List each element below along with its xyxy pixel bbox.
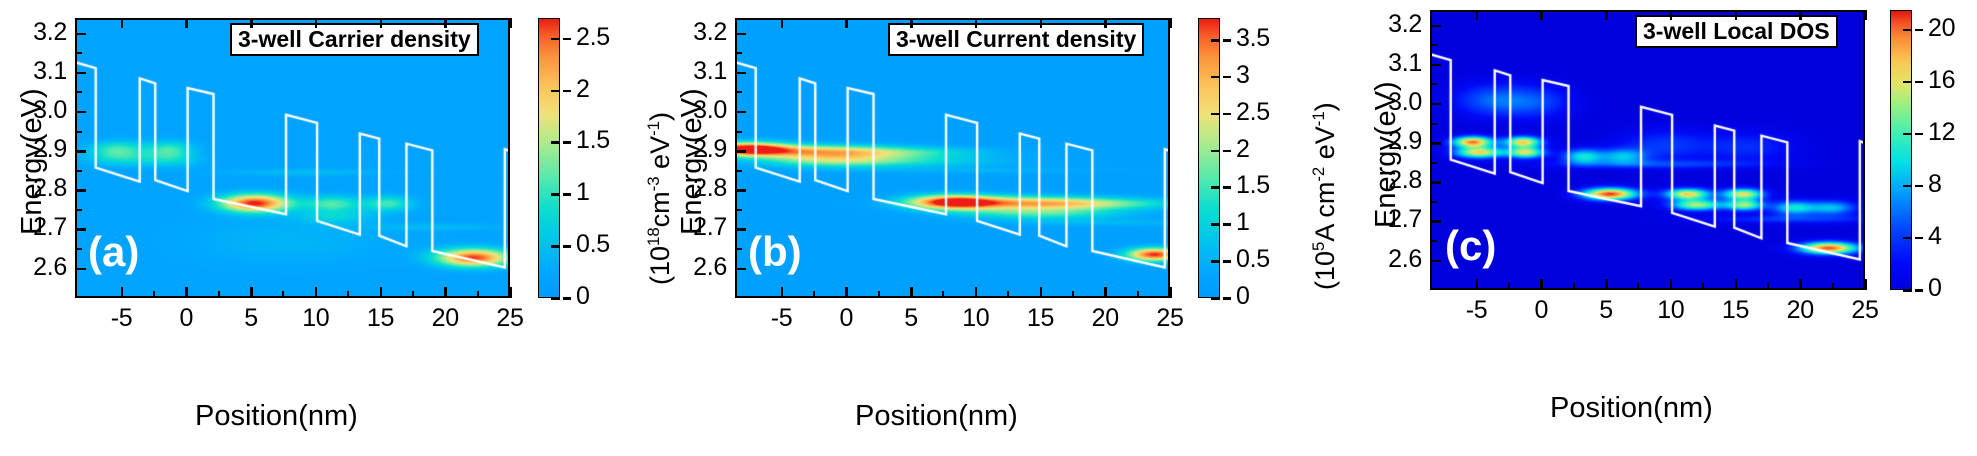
x-tick-label: 5	[1584, 296, 1628, 325]
x-tick	[444, 287, 447, 298]
y-minor-tick	[1430, 162, 1437, 164]
colorbar-tick-label: 20	[1928, 14, 1955, 43]
y-minor-tick	[75, 209, 82, 211]
x-top-tick	[444, 18, 447, 28]
x-top-tick	[1540, 10, 1543, 20]
y-minor-tick	[75, 131, 82, 133]
x-top-tick	[1670, 10, 1673, 20]
x-axis-title-c: Position(nm)	[1550, 392, 1713, 425]
colorbar-tick	[1211, 260, 1220, 263]
x-top-tick	[1040, 18, 1043, 28]
x-top-tick	[1476, 10, 1479, 20]
colorbar-tick-outer	[1223, 186, 1231, 189]
y-tick-label: 3.1	[9, 57, 67, 86]
x-tick	[1799, 279, 1802, 290]
y-tick-label: 3.1	[669, 57, 727, 86]
colorbar-tick	[1903, 133, 1912, 136]
panel-label-c: (c)	[1445, 222, 1496, 270]
y-tick-label: 3.2	[669, 18, 727, 47]
colorbar-tick	[551, 245, 560, 248]
y-tick	[735, 268, 746, 271]
colorbar-tick-outer	[1915, 29, 1923, 32]
colorbar-gradient-c	[1891, 11, 1912, 290]
y-minor-tick	[1430, 44, 1437, 46]
y-tick-label: 2.6	[1364, 245, 1422, 274]
colorbar-tick-outer	[563, 90, 571, 93]
colorbar-tick-outer	[563, 245, 571, 248]
x-top-tick	[1605, 10, 1608, 20]
x-tick	[121, 287, 124, 298]
x-top-tick	[1104, 18, 1107, 28]
x-minor-tick	[1137, 291, 1139, 298]
x-tick-label: 15	[359, 304, 403, 333]
y-minor-tick	[735, 52, 742, 54]
colorbar-tick-label: 0	[1236, 282, 1250, 311]
x-tick	[1864, 279, 1867, 290]
colorbar-tick-label: 3.5	[1236, 24, 1270, 53]
x-tick	[1169, 287, 1172, 298]
colorbar-c	[1890, 10, 1912, 290]
y-minor-tick	[75, 91, 82, 93]
colorbar-tick-outer	[1223, 297, 1231, 300]
x-minor-tick	[942, 291, 944, 298]
colorbar-tick-label: 0	[1928, 274, 1942, 303]
x-tick-label: 25	[1843, 296, 1887, 325]
y-tick-label: 3.0	[1364, 88, 1422, 117]
colorbar-tick	[1211, 39, 1220, 42]
x-tick-label: -5	[1455, 296, 1499, 325]
colorbar-tick	[1211, 297, 1220, 300]
y-tick	[1430, 25, 1441, 28]
colorbar-tick-outer	[1915, 289, 1923, 292]
x-tick-label: 5	[229, 304, 273, 333]
x-top-tick	[975, 18, 978, 28]
colorbar-tick-label: 0.5	[576, 230, 610, 259]
x-axis-title-a: Position(nm)	[195, 400, 358, 433]
x-tick	[975, 287, 978, 298]
colorbar-tick	[1903, 81, 1912, 84]
x-tick	[1476, 279, 1479, 290]
x-tick-label: -5	[100, 304, 144, 333]
y-minor-tick	[1430, 83, 1437, 85]
y-minor-tick	[735, 131, 742, 133]
y-minor-tick	[1430, 201, 1437, 203]
colorbar-tick-label: 3	[1236, 61, 1250, 90]
colorbar-tick-outer	[1915, 81, 1923, 84]
y-minor-tick	[735, 248, 742, 250]
colorbar-tick-outer	[563, 141, 571, 144]
x-minor-tick	[1702, 283, 1704, 290]
x-top-tick	[380, 18, 383, 28]
x-tick	[1104, 287, 1107, 298]
colorbar-tick-outer	[1915, 133, 1923, 136]
colorbar-tick	[551, 297, 560, 300]
x-tick-label: 15	[1019, 304, 1063, 333]
x-tick-label: 5	[889, 304, 933, 333]
x-top-tick	[185, 18, 188, 28]
x-tick	[1040, 287, 1043, 298]
x-top-tick	[1169, 18, 1172, 28]
y-tick	[735, 111, 746, 114]
x-tick	[1540, 279, 1543, 290]
band-profile-overlay-a	[75, 18, 510, 298]
y-tick-label: 2.8	[669, 174, 727, 203]
x-minor-tick	[1573, 283, 1575, 290]
x-tick-label: 20	[1778, 296, 1822, 325]
colorbar-tick-label: 1	[576, 178, 590, 207]
y-tick	[1430, 142, 1441, 145]
y-tick-label: 2.8	[1364, 166, 1422, 195]
y-tick-label: 2.9	[1364, 127, 1422, 156]
colorbar-tick-label: 2	[576, 75, 590, 104]
x-minor-tick	[1832, 283, 1834, 290]
x-minor-tick	[477, 291, 479, 298]
x-tick	[509, 287, 512, 298]
x-tick-label: 25	[1148, 304, 1192, 333]
x-axis-title-b: Position(nm)	[855, 400, 1018, 433]
colorbar-a	[538, 18, 560, 298]
colorbar-tick	[1903, 29, 1912, 32]
colorbar-tick-label: 2.5	[576, 23, 610, 52]
y-minor-tick	[75, 248, 82, 250]
x-minor-tick	[1508, 283, 1510, 290]
y-tick	[75, 72, 86, 75]
x-minor-tick	[347, 291, 349, 298]
y-tick	[1430, 181, 1441, 184]
colorbar-tick	[1903, 289, 1912, 292]
y-minor-tick	[75, 170, 82, 172]
y-tick-label: 3.0	[669, 96, 727, 125]
y-minor-tick	[735, 91, 742, 93]
y-tick	[75, 150, 86, 153]
panel-label-b: (b)	[748, 228, 802, 276]
y-tick	[735, 72, 746, 75]
figure-root: Energy(eV) Position(nm) (a) 3-well Carri…	[0, 0, 1977, 456]
y-tick	[1430, 220, 1441, 223]
y-tick	[75, 33, 86, 36]
panel-a: Energy(eV) Position(nm) (a) 3-well Carri…	[0, 0, 560, 456]
y-tick	[75, 228, 86, 231]
y-tick	[75, 189, 86, 192]
y-tick-label: 2.9	[9, 135, 67, 164]
colorbar-tick-label: 4	[1928, 222, 1942, 251]
x-tick	[315, 287, 318, 298]
y-tick	[1430, 103, 1441, 106]
x-top-tick	[121, 18, 124, 28]
x-minor-tick	[1007, 291, 1009, 298]
x-tick-label: 20	[1083, 304, 1127, 333]
colorbar-tick-label: 2	[1236, 135, 1250, 164]
x-minor-tick	[1072, 291, 1074, 298]
y-tick	[735, 150, 746, 153]
x-top-tick	[1735, 10, 1738, 20]
y-minor-tick	[75, 52, 82, 54]
x-tick-label: 10	[294, 304, 338, 333]
colorbar-tick	[1211, 76, 1220, 79]
x-tick	[185, 287, 188, 298]
y-minor-tick	[1430, 123, 1437, 125]
y-tick-label: 2.7	[669, 213, 727, 242]
colorbar-tick	[1211, 150, 1220, 153]
y-minor-tick	[735, 170, 742, 172]
y-tick-label: 2.7	[1364, 205, 1422, 234]
y-tick	[1430, 64, 1441, 67]
x-top-tick	[781, 18, 784, 28]
x-minor-tick	[218, 291, 220, 298]
colorbar-tick-outer	[1223, 223, 1231, 226]
x-tick-label: 0	[824, 304, 868, 333]
colorbar-tick-outer	[1223, 39, 1231, 42]
y-tick-label: 3.1	[1364, 49, 1422, 78]
colorbar-tick-label: 0.5	[1236, 245, 1270, 274]
colorbar-tick	[1903, 237, 1912, 240]
x-minor-tick	[412, 291, 414, 298]
colorbar-tick-outer	[1223, 113, 1231, 116]
y-minor-tick	[1430, 240, 1437, 242]
x-minor-tick	[813, 291, 815, 298]
colorbar-tick-label: 0	[576, 282, 590, 311]
colorbar-tick-label: 16	[1928, 66, 1955, 95]
colorbar-tick	[1211, 113, 1220, 116]
x-tick	[1735, 279, 1738, 290]
colorbar-tick-label: 1	[1236, 208, 1250, 237]
y-tick	[75, 111, 86, 114]
y-tick-label: 2.6	[669, 253, 727, 282]
x-tick	[250, 287, 253, 298]
x-minor-tick	[878, 291, 880, 298]
y-tick-label: 2.7	[9, 213, 67, 242]
x-tick-label: 10	[1649, 296, 1693, 325]
x-tick	[1670, 279, 1673, 290]
x-tick-label: 0	[1519, 296, 1563, 325]
colorbar-tick	[551, 193, 560, 196]
colorbar-tick	[1211, 186, 1220, 189]
x-tick-label: 0	[164, 304, 208, 333]
colorbar-tick	[1211, 223, 1220, 226]
y-tick	[735, 228, 746, 231]
x-tick-label: 10	[954, 304, 998, 333]
colorbar-tick-outer	[1223, 150, 1231, 153]
x-tick	[845, 287, 848, 298]
x-tick	[1605, 279, 1608, 290]
colorbar-tick-outer	[563, 297, 571, 300]
y-minor-tick	[735, 209, 742, 211]
x-tick	[380, 287, 383, 298]
colorbar-tick	[1903, 185, 1912, 188]
x-minor-tick	[1637, 283, 1639, 290]
colorbar-tick-outer	[563, 38, 571, 41]
x-top-tick	[250, 18, 253, 28]
x-tick-label: 25	[488, 304, 532, 333]
colorbar-tick-label: 1.5	[576, 126, 610, 155]
colorbar-tick-label: 12	[1928, 118, 1955, 147]
x-tick-label: 15	[1714, 296, 1758, 325]
x-top-tick	[315, 18, 318, 28]
x-tick	[781, 287, 784, 298]
colorbar-tick-label: 8	[1928, 170, 1942, 199]
colorbar-tick	[551, 38, 560, 41]
colorbar-gradient-a	[539, 19, 560, 298]
panel-b: Energy(eV) Position(nm) (b) 3-well Curre…	[660, 0, 1220, 456]
colorbar-tick-outer	[1223, 76, 1231, 79]
y-tick	[735, 189, 746, 192]
y-tick	[1430, 260, 1441, 263]
y-tick-label: 3.2	[9, 18, 67, 47]
y-tick	[735, 33, 746, 36]
x-top-tick	[509, 18, 512, 28]
x-top-tick	[1799, 10, 1802, 20]
x-minor-tick	[282, 291, 284, 298]
x-minor-tick	[1767, 283, 1769, 290]
colorbar-gradient-b	[1199, 19, 1220, 298]
heatmap-a	[75, 18, 510, 298]
y-tick-label: 2.8	[9, 174, 67, 203]
x-tick-label: 20	[423, 304, 467, 333]
y-tick-label: 2.6	[9, 253, 67, 282]
panel-title-a: 3-well Carrier density	[230, 23, 479, 56]
panel-label-a: (a)	[88, 228, 139, 276]
colorbar-tick-label: 2.5	[1236, 98, 1270, 127]
x-tick-label: -5	[760, 304, 804, 333]
colorbar-tick-outer	[1915, 237, 1923, 240]
x-tick	[910, 287, 913, 298]
colorbar-tick	[551, 141, 560, 144]
x-minor-tick	[153, 291, 155, 298]
x-top-tick	[910, 18, 913, 28]
y-tick	[75, 268, 86, 271]
colorbar-b	[1198, 18, 1220, 298]
y-tick-label: 2.9	[669, 135, 727, 164]
colorbar-tick-outer	[1223, 260, 1231, 263]
colorbar-tick-outer	[1915, 185, 1923, 188]
panel-c: Energy(eV) Position(nm) (c) 3-well Local…	[1320, 0, 1880, 456]
y-tick-label: 3.2	[1364, 10, 1422, 39]
x-top-tick	[845, 18, 848, 28]
colorbar-tick-outer	[563, 193, 571, 196]
colorbar-tick-label: 1.5	[1236, 171, 1270, 200]
x-top-tick	[1864, 10, 1867, 20]
y-tick-label: 3.0	[9, 96, 67, 125]
colorbar-tick	[551, 90, 560, 93]
